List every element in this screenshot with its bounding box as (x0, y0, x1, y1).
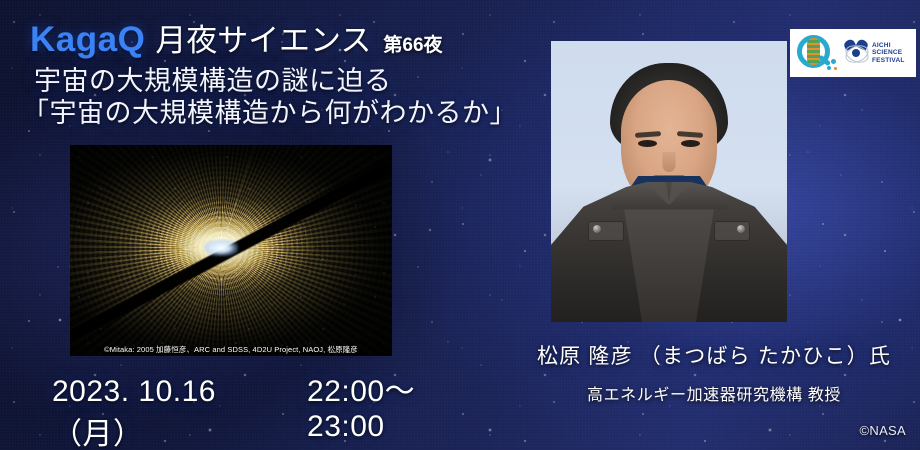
portrait-nose (663, 152, 676, 172)
schedule-block: 2023. 10.16（月） 22:00〜23:00 Zoomミーティング (52, 366, 472, 450)
atom-bird-icon (843, 38, 869, 68)
speaker-affiliation: 高エネルギー加速器研究機構 教授 (508, 381, 920, 405)
festival-wordmark: AICHI SCIENCE FESTIVAL (872, 42, 905, 65)
schedule-row: 2023. 10.16（月） 22:00〜23:00 (52, 366, 472, 450)
aichi-science-festival-logo[interactable]: AICHI SCIENCE FESTIVAL (790, 29, 916, 77)
nasa-credit: ©NASA (860, 423, 906, 438)
dna-helix-shape (807, 38, 820, 65)
q-dot-2 (827, 66, 831, 70)
q-dna-helix-icon (795, 33, 839, 73)
speaker-name: 松原 隆彦 （まつばら たかひこ）氏 (508, 340, 920, 370)
event-time: 22:00〜23:00 (307, 366, 472, 444)
festival-lockup: AICHI SCIENCE FESTIVAL (843, 38, 905, 68)
cosmic-structure-image (70, 145, 392, 356)
event-date: 2023. 10.16（月） (52, 375, 279, 450)
speaker-portrait-photo (551, 41, 787, 322)
cosmic-vignette (70, 145, 392, 356)
atom-nucleus (852, 49, 860, 57)
q-dot-1 (831, 59, 836, 64)
portrait-brow-left (635, 131, 661, 138)
festival-line-2: SCIENCE (872, 49, 905, 57)
subtitle-line-1: 宇宙の大規模構造の謎に迫る (0, 66, 520, 96)
title-row: KagaQ 月夜サイエンス 第66夜 (0, 22, 520, 57)
webinar-poster: KagaQ 月夜サイエンス 第66夜 宇宙の大規模構造の謎に迫る 「宇宙の大規模… (0, 0, 920, 450)
brand-logotype: KagaQ (30, 22, 145, 57)
subtitle-line-2: 「宇宙の大規模構造から何がわかるか」 (0, 98, 520, 128)
festival-line-3: FESTIVAL (872, 57, 905, 65)
jacket-snap-left (593, 225, 601, 233)
speaker-info-block: 松原 隆彦 （まつばら たかひこ）氏 高エネルギー加速器研究機構 教授 (508, 340, 920, 405)
figure-credit: ©Mitaka: 2005 加藤恒彦、ARC and SDSS, 4D2U Pr… (70, 343, 392, 357)
jacket-snap-right (737, 225, 745, 233)
series-title: 月夜サイエンス (155, 25, 371, 56)
festival-line-1: AICHI (872, 42, 905, 50)
q-dot-3 (834, 67, 837, 70)
headline-block: KagaQ 月夜サイエンス 第66夜 宇宙の大規模構造の謎に迫る 「宇宙の大規模… (0, 22, 520, 128)
portrait-brow-right (677, 131, 703, 138)
portrait-eye-right (681, 140, 700, 147)
episode-number: 第66夜 (383, 36, 442, 55)
portrait-eye-left (638, 140, 657, 147)
cosmic-structure-figure: ©Mitaka: 2005 加藤恒彦、ARC and SDSS, 4D2U Pr… (70, 145, 392, 356)
